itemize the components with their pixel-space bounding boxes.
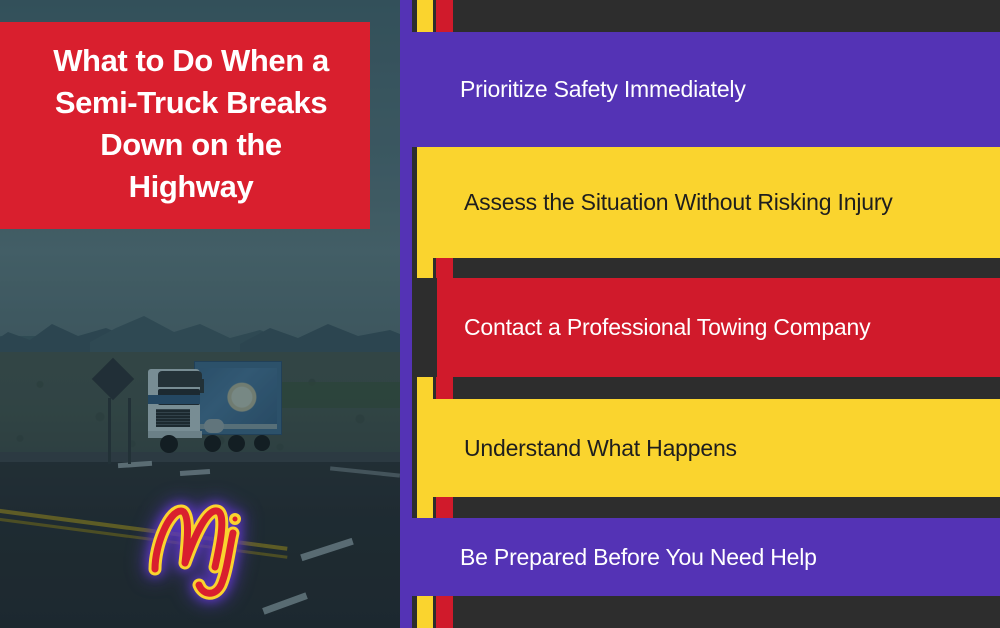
stripe-red — [436, 377, 453, 399]
mj-logo-svg — [141, 493, 259, 601]
stripe-group-bottom — [400, 596, 453, 628]
step-label-1: Prioritize Safety Immediately — [460, 76, 746, 103]
page-title-line-3: Down on the Highway — [100, 127, 282, 204]
stripe-purple — [400, 596, 412, 628]
stripe-purple — [400, 258, 412, 278]
stripe-group-2 — [400, 258, 453, 278]
stripe-purple — [400, 497, 412, 518]
step-label-3: Contact a Professional Towing Company — [464, 314, 870, 341]
stripe-red — [436, 497, 453, 518]
stripe-yellow — [417, 0, 433, 32]
stripe-group-top — [400, 0, 453, 32]
page-title-line-2: Semi-Truck Breaks — [55, 85, 327, 120]
step-label-5: Be Prepared Before You Need Help — [460, 544, 817, 571]
step-item-3[interactable]: Contact a Professional Towing Company — [437, 278, 1000, 377]
stripe-purple — [400, 147, 412, 158]
page-title: What to Do When a Semi-Truck Breaks Down… — [34, 40, 348, 207]
title-card: What to Do When a Semi-Truck Breaks Down… — [0, 22, 370, 229]
step-item-2[interactable]: Assess the Situation Without Risking Inj… — [417, 147, 1000, 258]
stripe-red — [436, 0, 453, 32]
stripe-yellow — [417, 596, 433, 628]
stripe-yellow — [417, 497, 433, 518]
step-item-1[interactable]: Prioritize Safety Immediately — [400, 32, 1000, 147]
infographic-canvas: What to Do When a Semi-Truck Breaks Down… — [0, 0, 1000, 628]
mj-script-logo — [140, 492, 260, 602]
stripe-red — [436, 258, 453, 278]
step-item-4[interactable]: Understand What Happens — [417, 399, 1000, 497]
stripe-yellow — [417, 258, 433, 278]
step-label-4: Understand What Happens — [464, 435, 737, 462]
stripe-purple — [400, 0, 412, 32]
stripe-yellow — [417, 377, 433, 399]
stripe-group-4 — [400, 497, 453, 518]
steps-panel: Prioritize Safety Immediately Assess the… — [400, 0, 1000, 628]
left-photo-panel: What to Do When a Semi-Truck Breaks Down… — [0, 0, 400, 628]
page-title-line-1: What to Do When a — [53, 43, 329, 78]
step-item-5[interactable]: Be Prepared Before You Need Help — [400, 518, 1000, 596]
stripe-group-3 — [400, 377, 453, 399]
step-label-2: Assess the Situation Without Risking Inj… — [464, 189, 893, 216]
stripe-purple — [400, 377, 412, 399]
stripe-red — [436, 596, 453, 628]
